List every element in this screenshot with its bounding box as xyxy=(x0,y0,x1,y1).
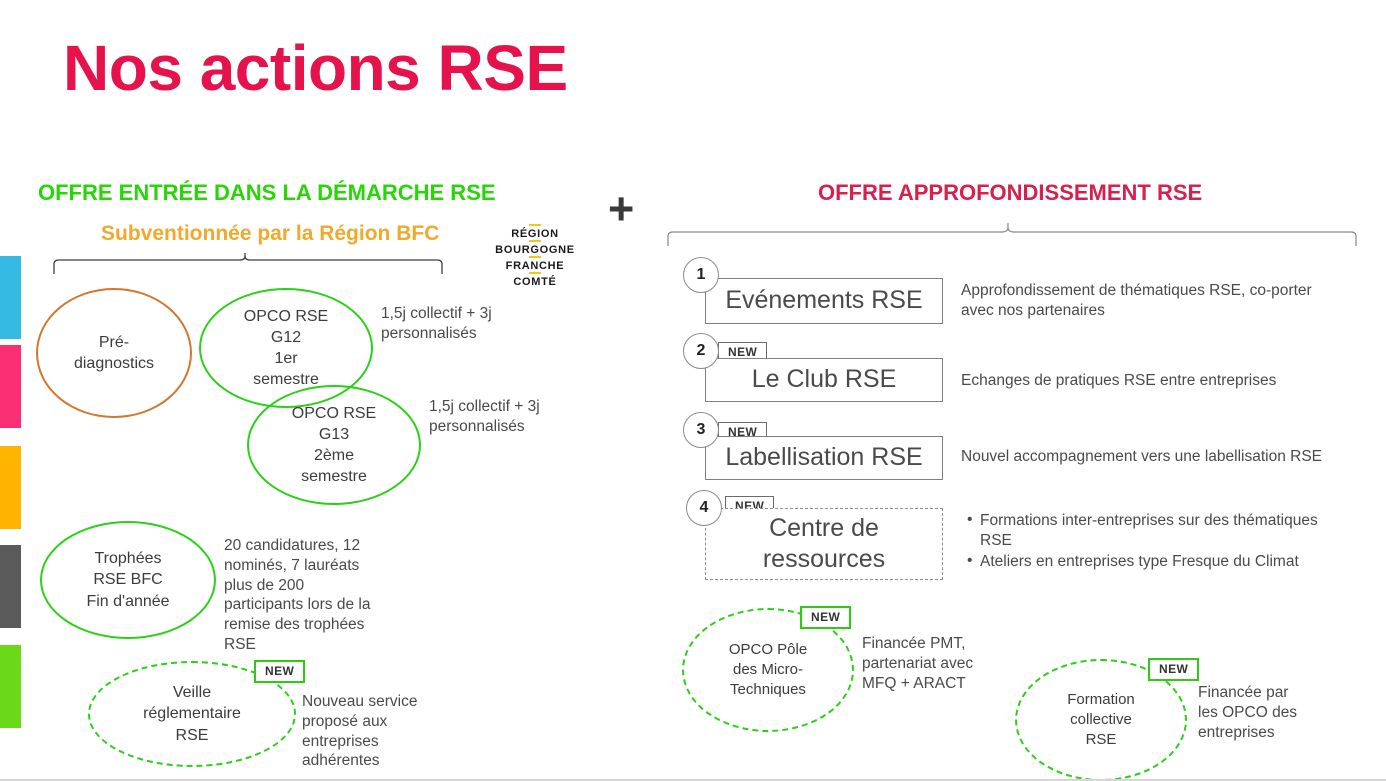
item-box-centre-de-ressources[interactable]: Centre de ressources xyxy=(705,508,943,580)
item-box-evenements-rse-label: Evénements RSE xyxy=(725,285,922,316)
plus-icon: + xyxy=(608,186,634,231)
ellipse-pre-diagnostics[interactable]: Pré- diagnostics xyxy=(36,288,192,418)
note-opco-rse-g12: 1,5j collectif + 3j personnalisés xyxy=(381,304,516,344)
note-veille-reglementaire-rse: Nouveau service proposé aux entreprises … xyxy=(302,692,434,771)
note-formation-collective-rse: Financée par les OPCO des entreprises xyxy=(1198,683,1308,742)
note-opco-rse-g13: 1,5j collectif + 3j personnalisés xyxy=(429,397,564,437)
item-number-1: 1 xyxy=(683,257,719,293)
item-box-labellisation-rse[interactable]: Labellisation RSE xyxy=(705,436,943,480)
accent-bar-green xyxy=(0,645,21,728)
right-bracket xyxy=(662,222,1362,248)
note-opco-pole-micro-techniques: Financée PMT, partenariat avec MFQ + ARA… xyxy=(862,634,987,693)
region-bfc-logo: RÉGION BOURGOGNE FRANCHE COMTÉ xyxy=(487,226,583,290)
ellipse-trophees-rse-bfc[interactable]: Trophées RSE BFC Fin d'année xyxy=(40,521,216,639)
ellipse-trophees-rse-bfc-label: Trophées RSE BFC Fin d'année xyxy=(86,548,169,611)
ellipse-formation-collective-rse-label: Formation collective RSE xyxy=(1067,690,1135,749)
left-section-heading: OFFRE ENTRÉE DANS LA DÉMARCHE RSE xyxy=(38,180,496,206)
item-description-1: Approfondissement de thématiques RSE, co… xyxy=(961,281,1336,321)
new-badge-formation-collective: NEW xyxy=(1148,658,1199,681)
ellipse-opco-rse-g13[interactable]: OPCO RSE G13 2ème semestre xyxy=(247,385,421,505)
item-box-le-club-rse[interactable]: Le Club RSE xyxy=(705,358,943,402)
right-section-heading: OFFRE APPROFONDISSEMENT RSE xyxy=(818,180,1202,206)
logo-line-4: COMTÉ xyxy=(487,274,583,290)
item-4-bullet-1: Formations inter-entreprises sur des thé… xyxy=(980,511,1326,551)
item-description-4: Formations inter-entreprises sur des thé… xyxy=(966,511,1326,573)
left-section-subheading: Subventionnée par la Région BFC xyxy=(101,222,439,246)
ellipse-opco-rse-g12-label: OPCO RSE G12 1er semestre xyxy=(244,306,328,390)
page-title: Nos actions RSE xyxy=(63,31,568,105)
slide-canvas: Nos actions RSE OFFRE ENTRÉE DANS LA DÉM… xyxy=(0,0,1386,781)
ellipse-pre-diagnostics-label: Pré- diagnostics xyxy=(74,332,154,374)
new-badge-veille: NEW xyxy=(254,660,305,683)
ellipse-opco-pole-micro-techniques-label: OPCO Pôle des Micro- Techniques xyxy=(729,640,807,699)
accent-bar-grey xyxy=(0,545,21,628)
item-box-evenements-rse[interactable]: Evénements RSE xyxy=(705,278,943,324)
item-description-3: Nouvel accompagnement vers une labellisa… xyxy=(961,447,1351,467)
accent-bar-pink xyxy=(0,345,21,428)
ellipse-opco-rse-g13-label: OPCO RSE G13 2ème semestre xyxy=(292,403,376,487)
left-bracket xyxy=(48,252,448,276)
item-number-2: 2 xyxy=(683,333,719,369)
item-box-centre-de-ressources-label: Centre de ressources xyxy=(706,513,942,576)
accent-bar-cyan xyxy=(0,256,21,339)
new-badge-opco-pole: NEW xyxy=(800,606,851,629)
item-box-le-club-rse-label: Le Club RSE xyxy=(752,364,897,395)
ellipse-veille-reglementaire-rse-label: Veille réglementaire RSE xyxy=(143,682,241,745)
accent-bar-amber xyxy=(0,446,21,529)
note-trophees-rse-bfc: 20 candidatures, 12 nominés, 7 lauréats … xyxy=(224,536,376,655)
item-number-3: 3 xyxy=(683,412,719,448)
item-4-bullet-list: Formations inter-entreprises sur des thé… xyxy=(966,511,1326,572)
item-number-4: 4 xyxy=(686,490,722,526)
item-4-bullet-2: Ateliers en entreprises type Fresque du … xyxy=(980,552,1326,572)
item-box-labellisation-rse-label: Labellisation RSE xyxy=(725,442,922,473)
item-description-2: Echanges de pratiques RSE entre entrepri… xyxy=(961,371,1351,391)
